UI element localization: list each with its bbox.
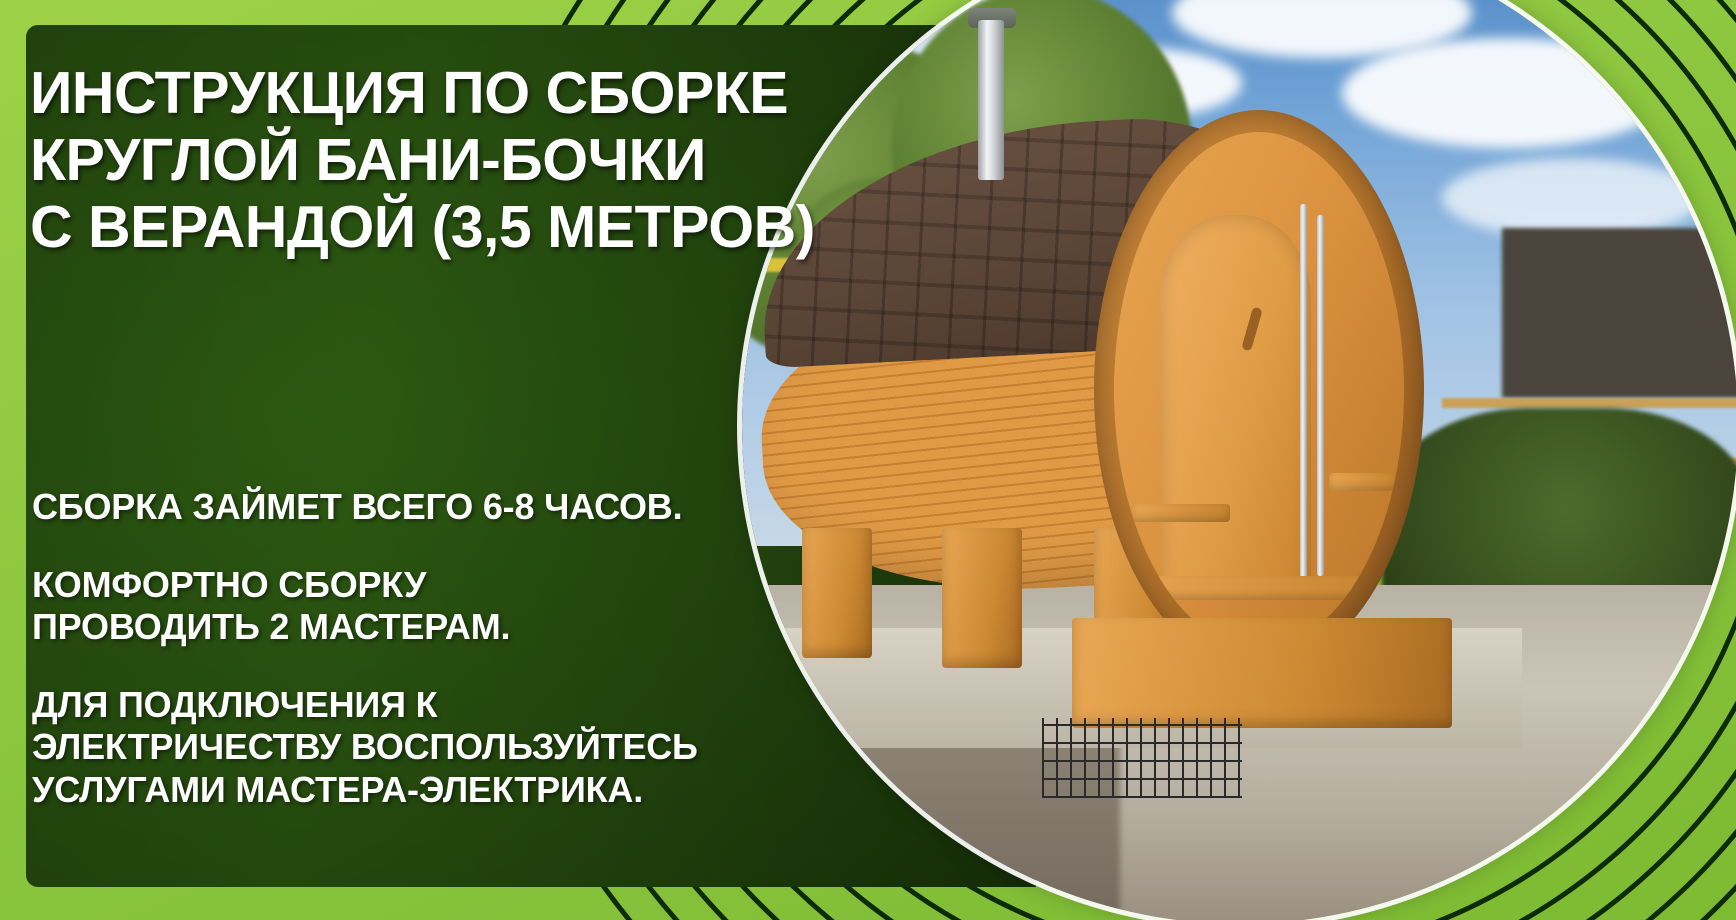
chimney-pipe (978, 20, 1004, 180)
veranda-bench-right (1329, 473, 1399, 491)
sauna-photo (742, 0, 1736, 920)
bullet-list: СБОРКА ЗАЙМЕТ ВСЕГО 6-8 ЧАСОВ. КОМФОРТНО… (32, 450, 762, 811)
poster-root: ИНСТРУКЦИЯ ПО СБОРКЕ КРУГЛОЙ БАНИ-БОЧКИ … (0, 0, 1736, 920)
veranda-floor (1126, 576, 1393, 600)
background-fence-rail-1 (1442, 398, 1736, 408)
barrel-support-leg-1 (802, 528, 872, 658)
bullet-item-electrician: ДЛЯ ПОДКЛЮЧЕНИЯ К ЭЛЕКТРИЧЕСТВУ ВОСПОЛЬЗ… (32, 684, 762, 810)
bullet-item-assembly-time: СБОРКА ЗАЙМЕТ ВСЕГО 6-8 ЧАСОВ. (32, 486, 762, 528)
metal-railing (1042, 718, 1242, 798)
background-building (1502, 228, 1736, 398)
cloud-2 (1342, 38, 1672, 148)
page-title: ИНСТРУКЦИЯ ПО СБОРКЕ КРУГЛОЙ БАНИ-БОЧКИ … (30, 60, 820, 262)
door-rail-right (1317, 215, 1324, 576)
door-rail-left (1300, 204, 1307, 586)
cloud-4 (1442, 158, 1702, 238)
barrel-front-ring (1094, 110, 1424, 670)
veranda-base-block (1072, 618, 1452, 728)
sauna-door (1160, 215, 1311, 597)
sauna-photo-image (742, 0, 1736, 920)
veranda-bench-left (1131, 504, 1230, 522)
barrel-support-leg-2 (942, 528, 1022, 668)
bullet-item-two-masters: КОМФОРТНО СБОРКУ ПРОВОДИТЬ 2 МАСТЕРАМ. (32, 564, 762, 648)
barrel-front-interior (1114, 132, 1404, 648)
